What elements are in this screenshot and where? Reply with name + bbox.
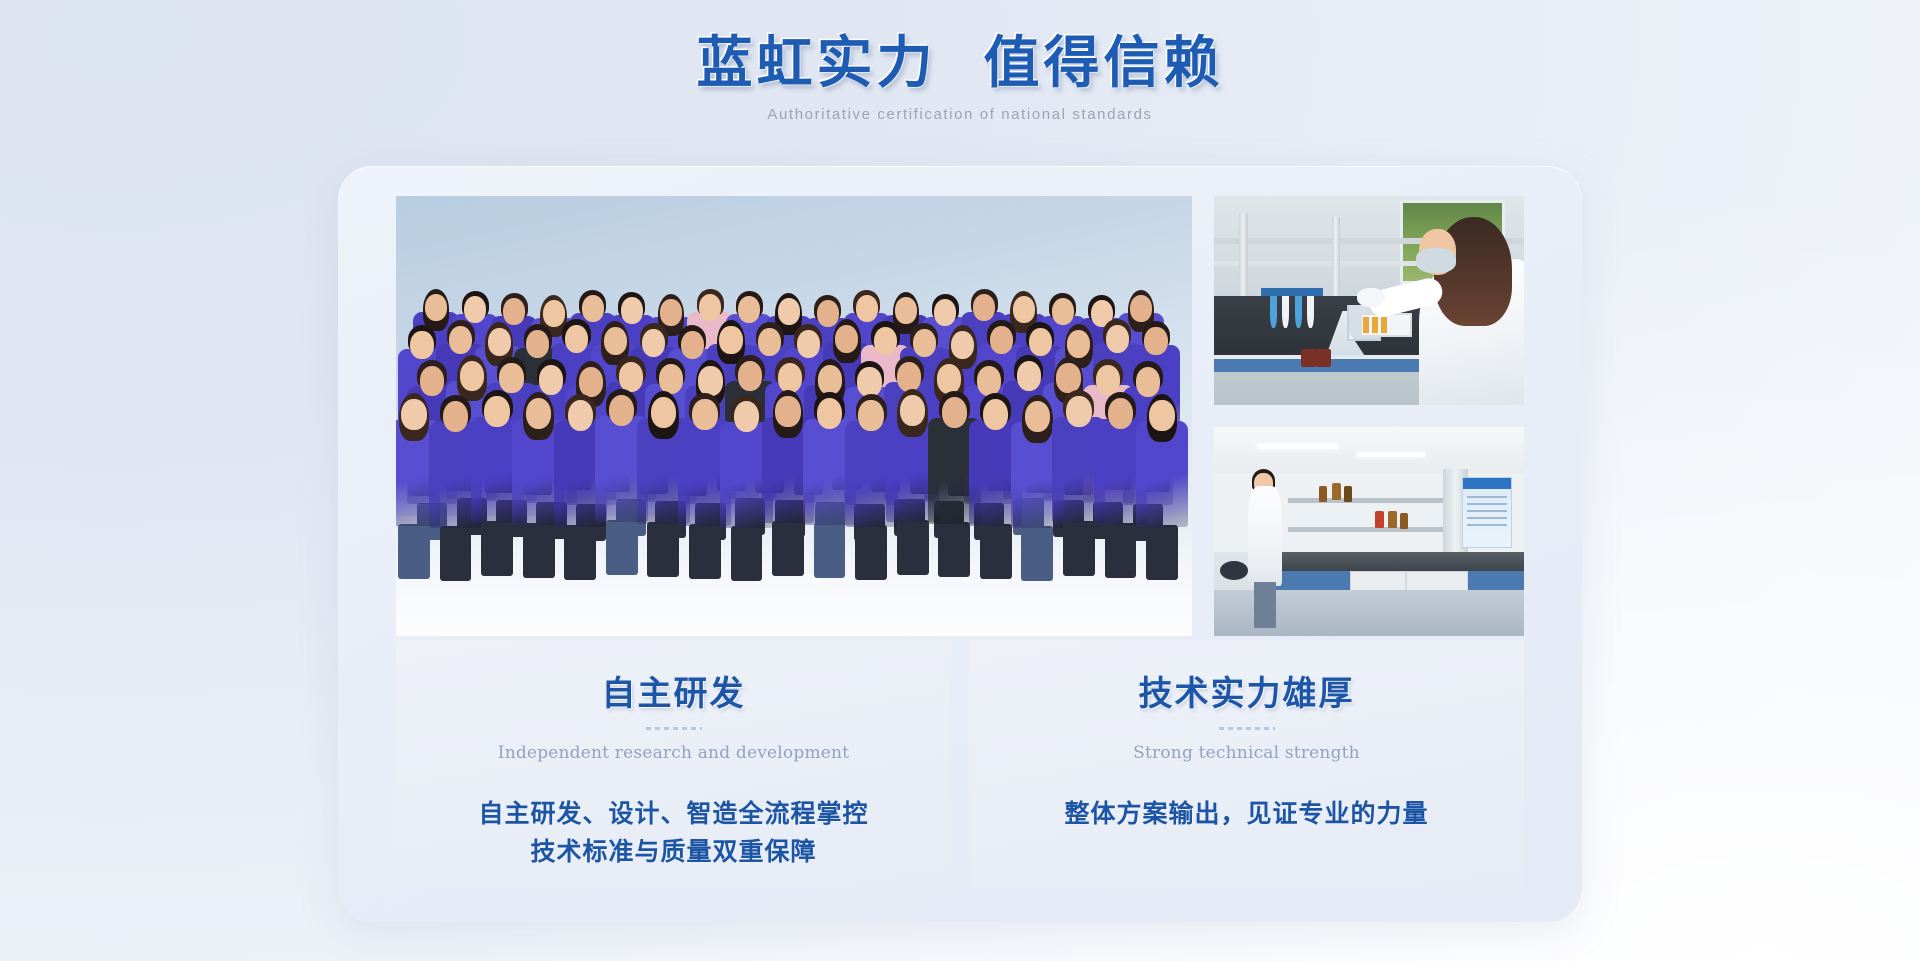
person-head — [604, 327, 627, 355]
reagent-bottle-d — [1375, 511, 1384, 528]
content-panel: 自主研发 Independent research and developmen… — [338, 166, 1582, 922]
person-legs — [731, 526, 763, 581]
poster-line-1 — [1467, 496, 1507, 498]
person-head — [499, 363, 523, 393]
reagent-shelf-lower — [1288, 527, 1455, 532]
person-head — [568, 400, 593, 431]
person-head — [401, 399, 426, 430]
company-group-photo[interactable] — [396, 196, 1192, 636]
person-head — [659, 364, 683, 394]
person-legs — [1105, 523, 1137, 578]
person-head — [738, 361, 762, 391]
person-legs — [855, 525, 887, 580]
person-head — [835, 325, 858, 353]
person-head — [642, 329, 665, 357]
feature-card-technical-strength[interactable]: 技术实力雄厚 Strong technical strength 整体方案输出，… — [969, 640, 1524, 888]
person-head — [1108, 398, 1133, 429]
card-divider-dashes — [1219, 727, 1275, 730]
person-head — [937, 364, 961, 394]
person-head — [1106, 325, 1129, 353]
person-legs — [1063, 521, 1095, 576]
reagent-bottle-c — [1344, 486, 1352, 502]
person-legs — [938, 522, 970, 577]
lab-stool — [1220, 561, 1248, 580]
person-head — [410, 331, 433, 359]
person-legs — [772, 521, 804, 576]
page-subtitle: Authoritative certification of national … — [0, 106, 1920, 123]
person-legs — [564, 525, 596, 580]
person-head — [681, 331, 704, 359]
pipette-rack — [1261, 288, 1323, 296]
poster-line-5 — [1467, 524, 1507, 526]
person-head — [817, 398, 842, 429]
person-head — [797, 330, 820, 358]
person-legs — [897, 520, 929, 575]
card-subtitle: Strong technical strength — [969, 743, 1524, 763]
person-head — [526, 330, 549, 358]
page-header: 蓝虹实力 值得信赖 Authoritative certification of… — [0, 0, 1920, 123]
person-head — [990, 326, 1013, 354]
ceiling-light-2 — [1357, 452, 1425, 457]
poster-line-4 — [1467, 517, 1507, 519]
card-body: 自主研发、设计、智造全流程掌控 技术标准与质量双重保障 — [396, 795, 951, 871]
person-head — [951, 331, 974, 359]
person-head — [874, 327, 897, 355]
person-head — [897, 362, 921, 392]
group-photo-people — [396, 196, 1192, 636]
person-head — [900, 395, 925, 426]
reagent-shelf-upper — [1288, 498, 1455, 503]
card-body-line: 整体方案输出，见证专业的力量 — [969, 795, 1524, 833]
researcher-legs — [1254, 582, 1276, 628]
person-head — [420, 366, 444, 396]
reagent-bottle-2 — [1316, 349, 1331, 367]
lab-island-bench-top — [1251, 552, 1524, 571]
feature-card-independent-rd[interactable]: 自主研发 Independent research and developmen… — [396, 640, 951, 888]
person-head — [443, 401, 468, 432]
person-head — [734, 401, 759, 432]
pipette-2 — [1282, 292, 1289, 328]
person-head — [913, 329, 936, 357]
person-head — [488, 328, 511, 356]
person-legs — [440, 526, 472, 581]
photo-gallery — [396, 196, 1524, 636]
card-body-line: 自主研发、设计、智造全流程掌控 — [396, 795, 951, 833]
person-head — [858, 400, 883, 431]
person-head — [565, 325, 588, 353]
person-head — [1025, 401, 1050, 432]
person-legs — [1146, 525, 1178, 580]
card-title: 技术实力雄厚 — [969, 666, 1524, 715]
person-head — [425, 294, 447, 321]
person-head — [1149, 400, 1174, 431]
person-head — [699, 294, 721, 321]
person-head — [460, 361, 484, 391]
person-legs — [1021, 526, 1053, 581]
ceiling-light-1 — [1257, 444, 1338, 449]
side-photo-column — [1214, 196, 1524, 636]
reagent-bottle-e — [1388, 511, 1397, 528]
person-head — [619, 362, 643, 392]
poster-line-3 — [1467, 510, 1507, 512]
person-head — [1056, 363, 1080, 393]
person-head — [719, 326, 742, 354]
person-head — [775, 396, 800, 427]
technician-face-mask — [1416, 248, 1456, 273]
pipette-1 — [1270, 294, 1277, 328]
sample-tube-1 — [1363, 317, 1369, 333]
person-head — [484, 396, 509, 427]
person-head — [526, 398, 551, 429]
lab-ceiling — [1214, 427, 1524, 473]
card-body: 整体方案输出，见证专业的力量 — [969, 795, 1524, 833]
person-head — [1017, 361, 1041, 391]
person-head — [698, 366, 722, 396]
person-head — [983, 399, 1008, 430]
safety-notice-poster — [1462, 477, 1512, 548]
card-body-line: 技术标准与质量双重保障 — [396, 833, 951, 871]
person-head — [973, 294, 995, 321]
person-head — [539, 365, 563, 395]
person-head — [1066, 396, 1091, 427]
pipette-4 — [1307, 294, 1314, 328]
person-head — [449, 326, 472, 354]
person-legs — [689, 524, 721, 579]
person-legs — [980, 524, 1012, 579]
reagent-bottle-a — [1319, 486, 1327, 502]
lab-pipetting-photo[interactable] — [1214, 196, 1524, 405]
poster-line-2 — [1467, 503, 1507, 505]
poster-header-band — [1463, 478, 1511, 489]
page-title: 蓝虹实力 值得信赖 — [0, 30, 1920, 96]
person-legs — [606, 520, 638, 575]
card-title: 自主研发 — [396, 666, 951, 715]
feature-cards: 自主研发 Independent research and developmen… — [396, 640, 1524, 888]
sample-tube-3 — [1381, 317, 1387, 333]
sample-tube-2 — [1372, 317, 1378, 333]
lab-room-photo[interactable] — [1214, 427, 1524, 636]
person-head — [1067, 330, 1090, 358]
person-legs — [647, 522, 679, 577]
person-legs — [481, 521, 513, 576]
person-head — [609, 395, 634, 426]
person-head — [818, 365, 842, 395]
person-head — [758, 328, 781, 356]
person-head — [1029, 328, 1052, 356]
person-legs — [814, 523, 846, 578]
pipette-3 — [1295, 292, 1302, 328]
reagent-bottle-1 — [1301, 349, 1316, 367]
person-head — [778, 363, 802, 393]
card-divider-dashes — [646, 727, 702, 730]
person-head — [651, 397, 676, 428]
person-head — [1144, 327, 1167, 355]
reagent-bottle-f — [1400, 513, 1408, 529]
group-photo-person — [1136, 394, 1189, 571]
person-legs — [523, 523, 555, 578]
person-legs — [398, 524, 430, 579]
researcher-lab-coat — [1248, 486, 1282, 586]
card-subtitle: Independent research and development — [396, 743, 951, 763]
person-head — [857, 367, 881, 397]
person-head — [942, 397, 967, 428]
person-head — [692, 399, 717, 430]
technician-glove — [1357, 288, 1385, 307]
reagent-bottle-b — [1332, 483, 1341, 500]
